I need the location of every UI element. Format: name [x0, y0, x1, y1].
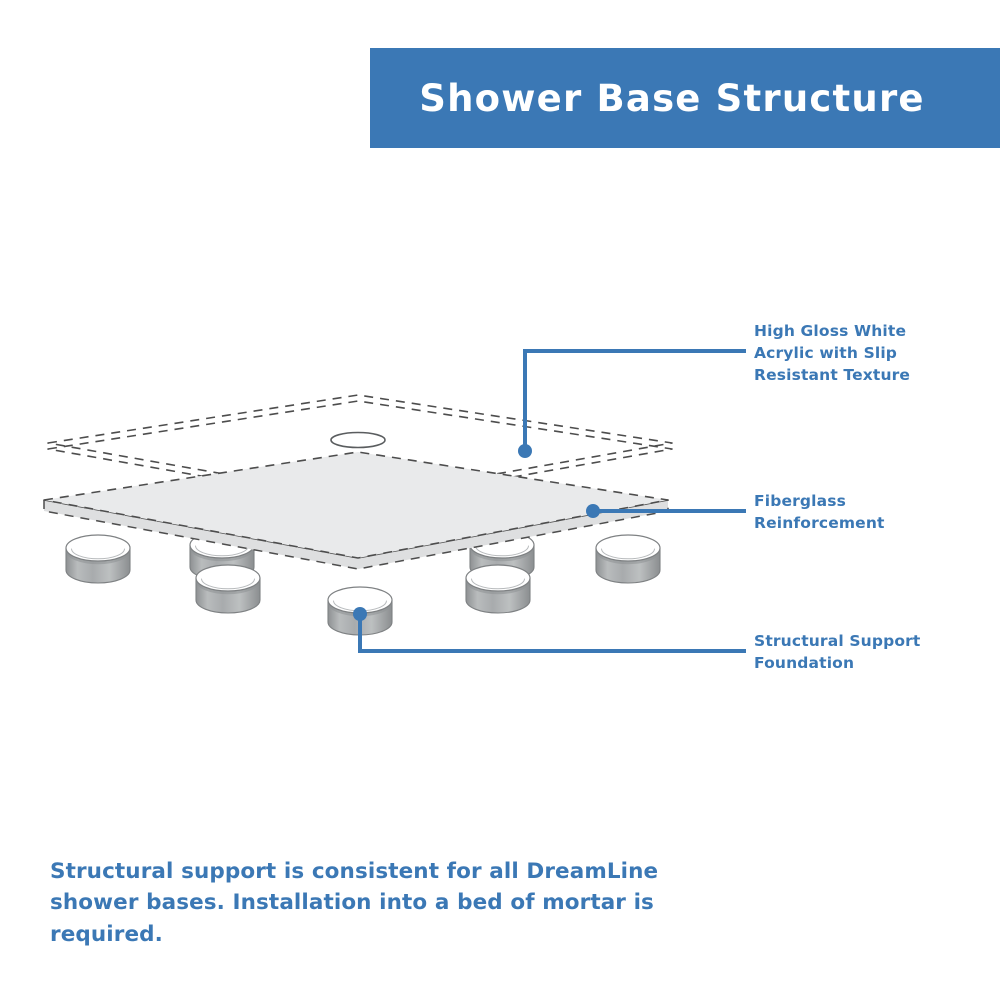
callout-label-fiberglass: Fiberglass Reinforcement [754, 490, 984, 534]
support-ring [196, 565, 260, 613]
leader-anchor-dot [518, 444, 532, 458]
leader-line-support [353, 607, 744, 651]
support-ring [596, 535, 660, 583]
leader-anchor-dot [353, 607, 367, 621]
support-ring-group-front [196, 565, 530, 635]
callout-label-acrylic: High Gloss White Acrylic with Slip Resis… [754, 320, 984, 386]
drain-opening-icon [331, 433, 385, 448]
support-ring [66, 535, 130, 583]
footer-caption: Structural support is consistent for all… [50, 856, 690, 950]
leader-line-acrylic [518, 351, 744, 458]
fiberglass-slab-layer [44, 452, 668, 569]
leader-anchor-dot [586, 504, 600, 518]
support-ring [466, 565, 530, 613]
callout-label-support: Structural Support Foundation [754, 630, 984, 674]
diagram-canvas: Shower Base Structure [0, 0, 1000, 1000]
fiberglass-slab-topface [44, 452, 668, 558]
